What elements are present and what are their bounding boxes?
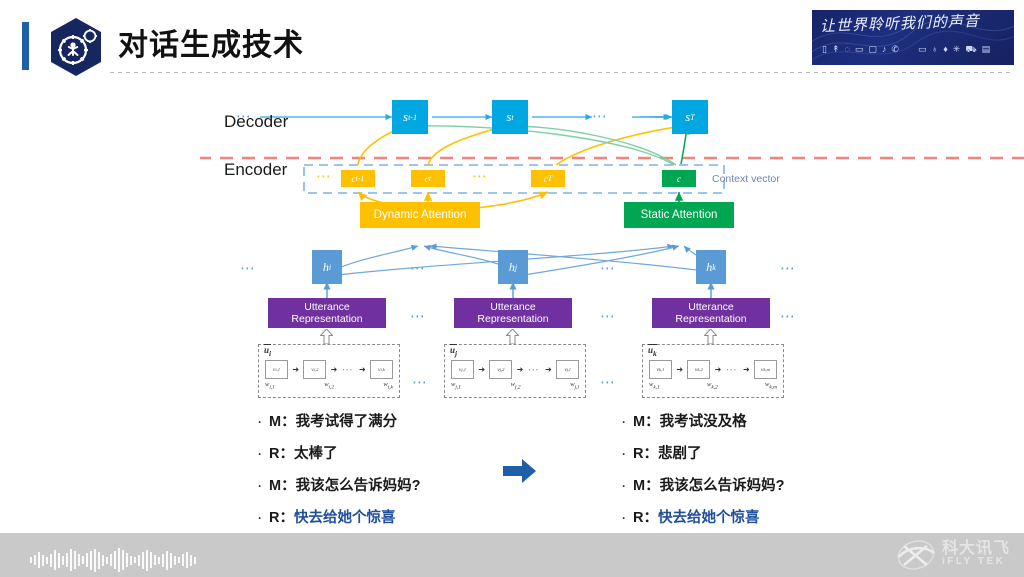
chat-icon: ▭ bbox=[918, 43, 927, 55]
static-attention-box: Static Attention bbox=[624, 202, 734, 228]
word-cell: vj,2 bbox=[489, 360, 512, 379]
word-label: wj,2 bbox=[511, 381, 521, 390]
dialogue-right-line-1: ·M：我考试没及格 bbox=[622, 410, 747, 431]
utterance-representation-box-3: UtteranceRepresentation bbox=[652, 298, 770, 328]
mic-icon: ♦ bbox=[943, 43, 948, 55]
bullet-icon: · bbox=[258, 479, 262, 493]
arrow-glyph: ➜ bbox=[743, 365, 750, 374]
arrow-glyph: ➜ bbox=[715, 365, 722, 374]
dialogue-left-line-4: ·R：快去给她个惊喜 bbox=[258, 506, 395, 527]
word-cell-last: vi,k bbox=[370, 360, 393, 379]
decoder-state-box-2: st bbox=[492, 100, 528, 134]
hollow-up-arrow-icon-2 bbox=[506, 329, 519, 344]
word-rnn-group-2: uj vj,1 ➜ vj,2 ➜ ⋯ ➜ vj,l wj,1 wj,2 wj,l bbox=[444, 344, 586, 398]
utterance-var-label-3: uk bbox=[648, 344, 657, 358]
utterance-representation-box-1: UtteranceRepresentation bbox=[268, 298, 386, 328]
utterance-ellipsis-2: ⋯ bbox=[600, 312, 617, 322]
star-icon: ✳ bbox=[953, 43, 961, 55]
utterance-var-label-1: ui bbox=[264, 344, 271, 358]
iflytek-logo-icon bbox=[896, 540, 936, 570]
context-vector-sub: T bbox=[548, 174, 552, 183]
hidden-state-box-2: hj bbox=[498, 250, 528, 284]
utterance-ellipsis-3: ⋯ bbox=[780, 312, 797, 322]
dialogue-right-line-4: ·R：快去给她个惊喜 bbox=[622, 506, 759, 527]
banner-icon-row: ▯ ↟ ◌ ▭ ▢ ♪ ✆ ▭ ♁ ♦ ✳ ⛟ ▤ bbox=[822, 43, 1008, 55]
dialogue-left-line-2: ·R：太棒了 bbox=[258, 442, 337, 463]
word-cell-last: vj,l bbox=[556, 360, 579, 379]
word-cell-row-2: vj,1 ➜ vj,2 ➜ ⋯ ➜ vj,l bbox=[451, 360, 579, 379]
arrow-glyph: ➜ bbox=[676, 365, 683, 374]
word-cell-ellipsis: ⋯ bbox=[342, 365, 355, 375]
arrow-glyph: ➜ bbox=[292, 365, 299, 374]
hidden-ellipsis-1: ⋯ bbox=[410, 264, 427, 274]
hidden-state-box-3: hk bbox=[696, 250, 726, 284]
word-label-row-1: wi,1 wi,2 wi,k bbox=[265, 381, 393, 390]
context-ellipsis-mid: ⋯ bbox=[472, 172, 489, 182]
dialogue-response-highlight: 快去给她个惊喜 bbox=[294, 510, 396, 526]
word-label-last: wi,k bbox=[383, 381, 393, 390]
hidden-state-sub: k bbox=[712, 263, 716, 272]
brand-name-en: iFLY TEK bbox=[942, 555, 1010, 568]
context-vector-box-2: ct bbox=[411, 170, 445, 187]
arrow-glyph: ➜ bbox=[517, 365, 524, 374]
bullet-icon: · bbox=[258, 415, 262, 429]
group-ellipsis-2: ⋯ bbox=[600, 378, 617, 388]
hollow-up-arrow-icon-3 bbox=[704, 329, 717, 344]
word-cell-ellipsis: ⋯ bbox=[528, 365, 541, 375]
slide-root: 对话生成技术 让世界聆听我们的声音 ▯ ↟ ◌ ▭ ▢ ♪ ✆ ▭ ♁ ♦ ✳ … bbox=[0, 0, 1024, 577]
hollow-up-arrow-icon-1 bbox=[320, 329, 333, 344]
word-cell: vi,1 bbox=[265, 360, 288, 379]
word-cell: vj,1 bbox=[451, 360, 474, 379]
decoder-state-box-3: sT bbox=[672, 100, 708, 134]
word-rnn-group-3: uk vk,1 ➜ vk,2 ➜ ⋯ ➜ vk,m wk,1 wk,2 wk,m bbox=[642, 344, 784, 398]
encoder-label: Encoder bbox=[224, 160, 287, 180]
word-label: wk,2 bbox=[707, 381, 718, 390]
audio-waveform-icon bbox=[30, 547, 196, 573]
utterance-var-label-2: uj bbox=[450, 344, 457, 358]
cursor-icon: ↟ bbox=[832, 43, 840, 55]
calendar-icon: ▢ bbox=[868, 43, 877, 55]
context-ellipsis-left: ⋯ bbox=[316, 172, 333, 182]
utterance-ellipsis-1: ⋯ bbox=[410, 312, 427, 322]
group-ellipsis-1: ⋯ bbox=[412, 378, 429, 388]
context-vector-box-static: c bbox=[662, 170, 696, 187]
word-label: wi,2 bbox=[324, 381, 334, 390]
arrow-glyph: ➜ bbox=[478, 365, 485, 374]
static-attention-label: Static Attention bbox=[641, 209, 718, 221]
phone-icon: ▯ bbox=[822, 43, 827, 55]
cart-icon: ⛟ bbox=[965, 43, 976, 55]
search-icon: ◌ bbox=[845, 43, 850, 55]
bullet-icon: · bbox=[258, 511, 262, 525]
hidden-state-box-1: hi bbox=[312, 250, 342, 284]
word-label-last: wk,m bbox=[765, 381, 777, 390]
word-cell: vk,2 bbox=[687, 360, 710, 379]
music-icon: ♪ bbox=[882, 43, 887, 55]
context-vector-box-3: cT bbox=[531, 170, 565, 187]
word-cell: vi,2 bbox=[303, 360, 326, 379]
dialogue-left-line-3: ·M：我该怎么告诉妈妈? bbox=[258, 474, 420, 495]
word-cell-last: vk,m bbox=[754, 360, 777, 379]
word-label-last: wj,l bbox=[570, 381, 579, 390]
utterance-representation-label: UtteranceRepresentation bbox=[675, 301, 746, 325]
word-rnn-group-1: ui vi,1 ➜ vi,2 ➜ ⋯ ➜ vi,k wi,1 wi,2 wi,k bbox=[258, 344, 400, 398]
dialogue-right-line-3: ·M：我该怎么告诉妈妈? bbox=[622, 474, 784, 495]
bullet-icon: · bbox=[622, 415, 626, 429]
word-label: wj,1 bbox=[451, 381, 461, 390]
title-accent-bar bbox=[22, 22, 29, 70]
dynamic-attention-box: Dynamic Attention bbox=[360, 202, 480, 228]
bullet-icon: · bbox=[622, 511, 626, 525]
call-icon: ✆ bbox=[891, 43, 899, 55]
hidden-ellipsis-3: ⋯ bbox=[780, 264, 797, 274]
context-vector-caption: Context vector bbox=[712, 173, 780, 185]
word-cell-row-1: vi,1 ➜ vi,2 ➜ ⋯ ➜ vi,k bbox=[265, 360, 393, 379]
decoder-state-sub: t bbox=[511, 113, 513, 122]
arrow-glyph: ➜ bbox=[331, 365, 338, 374]
person-icon: ♁ bbox=[931, 43, 938, 55]
utterance-representation-box-2: UtteranceRepresentation bbox=[454, 298, 572, 328]
decoder-label: Decoder bbox=[224, 112, 288, 132]
context-vector-sub: t bbox=[429, 174, 431, 183]
word-label-row-2: wj,1 wj,2 wj,l bbox=[451, 381, 579, 390]
context-vector-sub: t-1 bbox=[356, 174, 365, 183]
dialogue-response-highlight: 快去给她个惊喜 bbox=[658, 510, 760, 526]
hidden-state-sub: j bbox=[515, 263, 517, 272]
iflytek-logo: 科大讯飞 iFLY TEK bbox=[896, 540, 1010, 570]
bullet-icon: · bbox=[622, 447, 626, 461]
decoder-ellipsis-mid: ⋯ bbox=[592, 112, 609, 122]
dialogue-left-line-1: ·M：我考试得了满分 bbox=[258, 410, 397, 431]
word-label: wi,1 bbox=[265, 381, 275, 390]
bullet-icon: · bbox=[622, 479, 626, 493]
decoder-ellipsis-left: ⋯ bbox=[236, 112, 253, 122]
hred-attention-diagram: Decoder Encoder ⋯ st-1 st ⋯ sT ⋯ ct-1 ct… bbox=[200, 86, 1024, 402]
hidden-ellipsis-2: ⋯ bbox=[600, 264, 617, 274]
word-cell: vk,1 bbox=[649, 360, 672, 379]
bullet-icon: · bbox=[258, 447, 262, 461]
hexagon-gear-person-icon bbox=[46, 16, 106, 78]
right-arrow-icon bbox=[503, 457, 537, 485]
mail-icon: ▭ bbox=[855, 43, 864, 55]
hidden-ellipsis-0: ⋯ bbox=[240, 264, 257, 274]
arrow-glyph: ➜ bbox=[359, 365, 366, 374]
context-vector-label: c bbox=[677, 174, 681, 184]
word-label-row-3: wk,1 wk,2 wk,m bbox=[649, 381, 777, 390]
word-cell-row-3: vk,1 ➜ vk,2 ➜ ⋯ ➜ vk,m bbox=[649, 360, 777, 379]
dialogue-right-line-2: ·R：悲剧了 bbox=[622, 442, 701, 463]
decoder-state-sub: T bbox=[690, 113, 694, 122]
dynamic-attention-label: Dynamic Attention bbox=[374, 209, 467, 221]
word-label: wk,1 bbox=[649, 381, 660, 390]
page-title: 对话生成技术 bbox=[118, 24, 304, 68]
decoder-state-sub: t-1 bbox=[408, 113, 417, 122]
hidden-state-sub: i bbox=[329, 263, 331, 272]
word-cell-ellipsis: ⋯ bbox=[726, 365, 739, 375]
arrow-glyph: ➜ bbox=[545, 365, 552, 374]
brand-banner: 让世界聆听我们的声音 ▯ ↟ ◌ ▭ ▢ ♪ ✆ ▭ ♁ ♦ ✳ ⛟ ▤ bbox=[812, 10, 1014, 65]
decoder-state-box-1: st-1 bbox=[392, 100, 428, 134]
utterance-representation-label: UtteranceRepresentation bbox=[291, 301, 362, 325]
book-icon: ▤ bbox=[982, 43, 991, 55]
iflytek-wordmark: 科大讯飞 iFLY TEK bbox=[942, 542, 1010, 568]
utterance-representation-label: UtteranceRepresentation bbox=[477, 301, 548, 325]
brand-name-cn: 科大讯飞 bbox=[942, 542, 1010, 555]
title-divider bbox=[110, 72, 1010, 73]
context-vector-box-1: ct-1 bbox=[341, 170, 375, 187]
